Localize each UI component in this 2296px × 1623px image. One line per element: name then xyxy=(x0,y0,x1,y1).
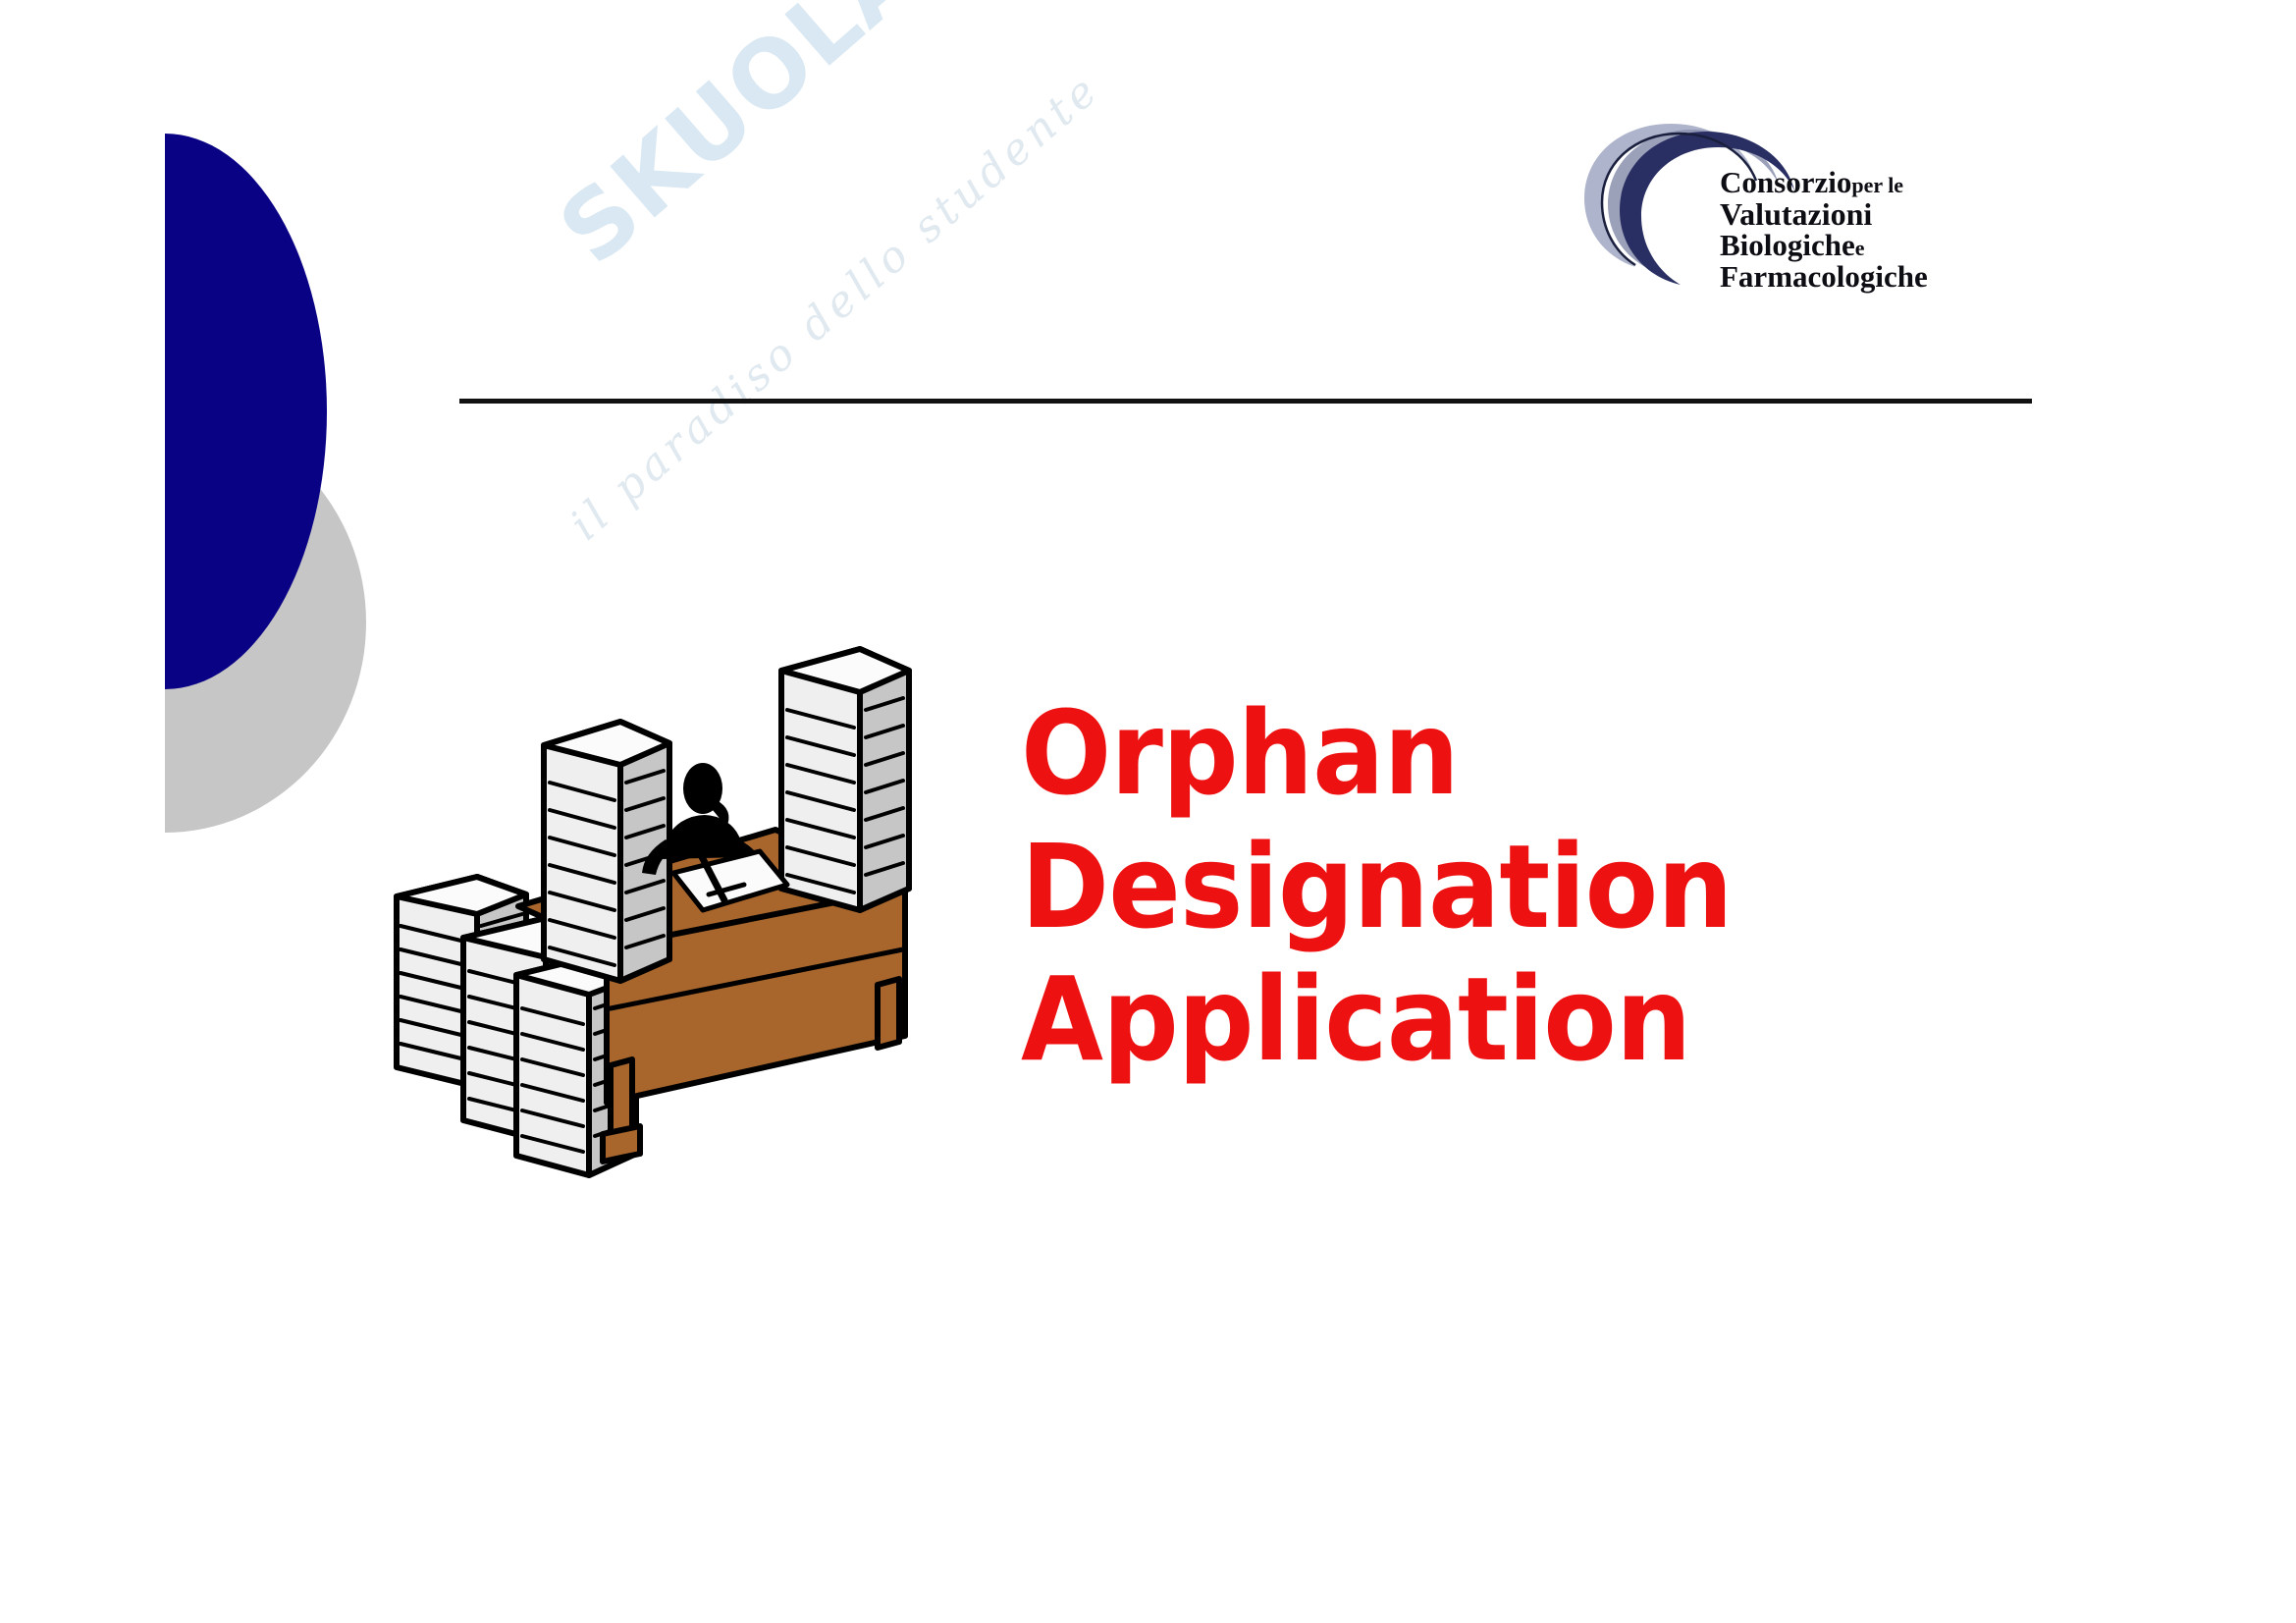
watermark-brand: SKUOLA.net xyxy=(542,0,1088,280)
logo-line-3: Biologichee xyxy=(1720,230,2044,261)
logo-text-block: Consorzioper le Valutazioni Biologichee … xyxy=(1720,167,2044,292)
logo-line-4: Farmacologiche xyxy=(1720,261,2044,293)
page-title: Orphan Designation Application xyxy=(1021,687,2081,1087)
watermark-brand-text: SKUOLA xyxy=(540,0,940,286)
title-line-3: Application xyxy=(1021,953,1997,1087)
consorzio-logo: Consorzioper le Valutazioni Biologichee … xyxy=(1576,108,2044,352)
horizontal-rule xyxy=(459,399,2032,404)
paper-stack-right xyxy=(781,649,909,910)
logo-line-2: Valutazioni xyxy=(1720,198,2044,231)
person-at-desk-with-paper-stacks-illustration xyxy=(379,643,938,1213)
watermark-tagline: il paradiso dello studente xyxy=(563,67,1108,548)
logo-line-1: Consorzioper le xyxy=(1720,167,2044,198)
logo-line-1-small: per le xyxy=(1851,173,1903,197)
slide-canvas: SKUOLA.net il paradiso dello studente Co… xyxy=(0,0,2296,1623)
title-line-2: Designation xyxy=(1021,821,1997,954)
logo-line-3-caps: Biologiche xyxy=(1720,228,1855,262)
watermark: SKUOLA.net il paradiso dello studente xyxy=(589,20,1139,530)
title-line-1: Orphan xyxy=(1021,687,1997,821)
logo-line-1-caps: Consorzio xyxy=(1720,165,1851,199)
logo-line-3-small: e xyxy=(1855,236,1865,260)
paper-stack-middle xyxy=(544,722,669,981)
